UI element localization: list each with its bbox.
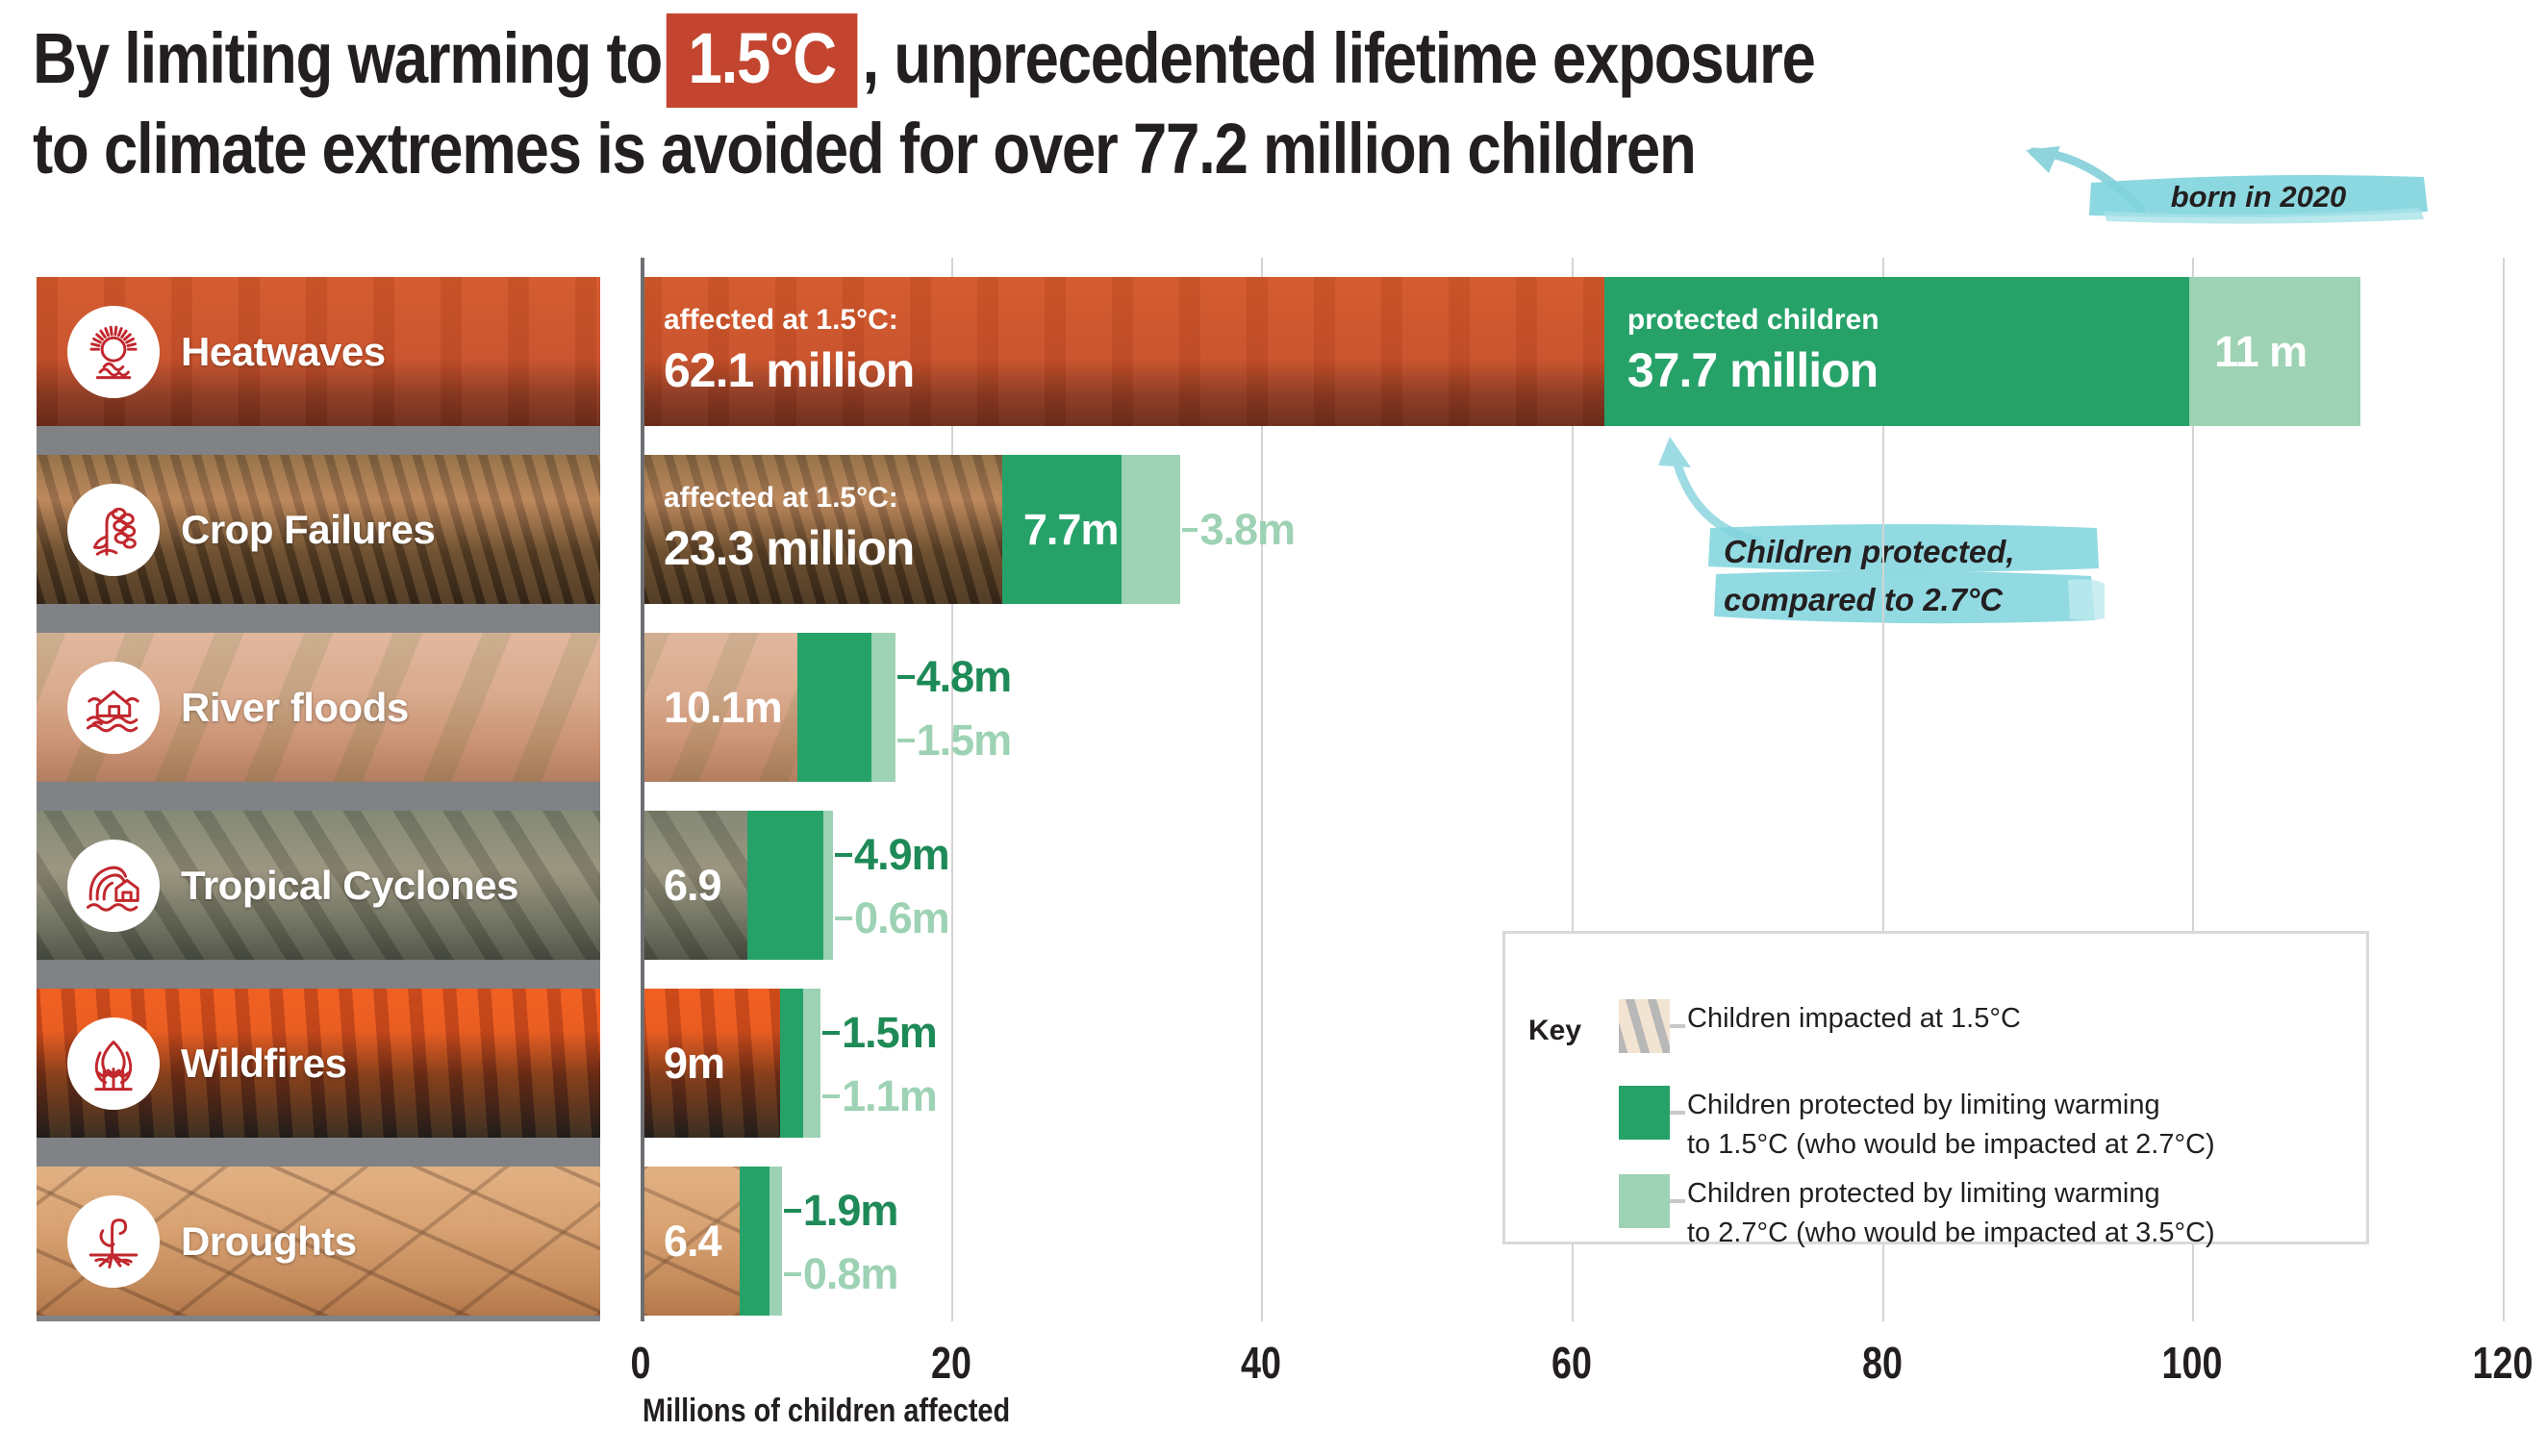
cyclone-icon xyxy=(67,840,160,932)
legend-title: Key xyxy=(1528,1015,1581,1047)
leader-line-2_7c xyxy=(1182,528,1198,532)
protected-2_7c-value: 0.6m xyxy=(854,893,949,943)
category-tile-heatwaves[interactable]: Heatwaves xyxy=(37,277,600,426)
axis-baseline xyxy=(641,258,644,1321)
segment-protected-2_7c[interactable] xyxy=(1122,455,1180,604)
legend-label: Children impacted at 1.5°C xyxy=(1687,999,2021,1039)
bar-row-heatwaves: affected at 1.5°C: 62.1 million protecte… xyxy=(641,277,2360,426)
affected-value: 62.1 million xyxy=(664,342,914,398)
x-axis-tick-label: 20 xyxy=(931,1337,971,1389)
legend-label: Children protected by limiting warming t… xyxy=(1687,1174,2215,1253)
category-label: River floods xyxy=(181,685,409,731)
segment-protected-1_5c[interactable] xyxy=(740,1167,769,1316)
protected-2_7c-value: 1.5m xyxy=(917,715,1012,766)
protected-1_5c-value: 37.7 million xyxy=(1627,342,1878,398)
affected-caption: affected at 1.5°C: xyxy=(664,482,898,515)
segment-protected-1_5c[interactable] xyxy=(797,633,871,782)
leader-line-2_7c xyxy=(897,739,915,742)
affected-caption: affected at 1.5°C: xyxy=(664,304,898,337)
legend-item-1: Children impacted at 1.5°C xyxy=(1619,999,2021,1053)
legend-swatch xyxy=(1619,1086,1670,1140)
title-text-after-chip: , unprecedented lifetime exposure xyxy=(862,18,1814,98)
category-label: Tropical Cyclones xyxy=(181,863,518,909)
segment-protected-2_7c[interactable] xyxy=(769,1167,782,1316)
legend-swatch xyxy=(1619,1174,1670,1228)
protected-1_5c-value: 1.5m xyxy=(842,1008,937,1058)
x-axis-tick-label: 120 xyxy=(2473,1337,2534,1389)
category-label: Crop Failures xyxy=(181,507,435,553)
heatwave-icon xyxy=(67,306,160,398)
page-title: By limiting warming to1.5°C, unprecedent… xyxy=(33,13,2130,190)
category-tile-wildfires[interactable]: Wildfires xyxy=(37,989,600,1138)
leader-line-1_5c xyxy=(897,675,915,679)
affected-value: 9m xyxy=(664,1039,724,1089)
legend-connector xyxy=(1670,1199,1685,1203)
segment-protected-2_7c[interactable] xyxy=(823,811,833,960)
x-axis-tick-label: 80 xyxy=(1862,1337,1903,1389)
legend-item-2: Children protected by limiting warming t… xyxy=(1619,1086,2215,1165)
legend-connector xyxy=(1670,1024,1685,1028)
legend-box: Key Children impacted at 1.5°C Children … xyxy=(1502,931,2369,1244)
legend-label: Children protected by limiting warming t… xyxy=(1687,1086,2215,1165)
category-label: Heatwaves xyxy=(181,329,386,375)
x-axis-tick-label: 100 xyxy=(2162,1337,2223,1389)
affected-value: 6.4 xyxy=(664,1217,721,1267)
leader-line-1_5c xyxy=(822,1031,840,1035)
protected-2_7c-value: 3.8m xyxy=(1199,505,1295,555)
crop-failure-icon xyxy=(67,484,160,576)
protected-1_5c-value: 1.9m xyxy=(803,1186,898,1236)
category-tile-river-floods[interactable]: River floods xyxy=(37,633,600,782)
leader-line-2_7c xyxy=(822,1094,840,1098)
protected-1_5c-value: 4.9m xyxy=(854,830,949,880)
protected-2_7c-value: 11 m xyxy=(2214,327,2307,377)
title-line-2: to climate extremes is avoided for over … xyxy=(33,108,1836,190)
born-in-badge: born in 2020 xyxy=(2085,169,2432,225)
category-label: Wildfires xyxy=(181,1041,346,1087)
bar-row-tropical-cyclones: 6.9 4.9m 0.6m xyxy=(641,811,833,960)
x-axis-tick-label: 0 xyxy=(631,1337,651,1389)
legend-swatch xyxy=(1619,999,1670,1053)
x-axis-tick-label: 60 xyxy=(1551,1337,1592,1389)
category-tile-droughts[interactable]: Droughts xyxy=(37,1167,600,1316)
segment-protected-2_7c[interactable] xyxy=(803,989,820,1138)
protected-caption: protected children xyxy=(1627,304,1879,337)
bar-row-river-floods: 10.1m 4.8m 1.5m xyxy=(641,633,895,782)
drought-icon xyxy=(67,1195,160,1288)
bar-row-droughts: 6.4 1.9m 0.8m xyxy=(641,1167,782,1316)
legend-connector xyxy=(1670,1111,1685,1115)
category-tile-tropical-cyclones[interactable]: Tropical Cyclones xyxy=(37,811,600,960)
river-flood-icon xyxy=(67,662,160,754)
x-axis-title: Millions of children affected xyxy=(643,1393,1010,1430)
protected-1_5c-value: 4.8m xyxy=(917,652,1012,702)
category-panel: Heatwaves Crop Failures River floods Tro… xyxy=(37,277,600,1321)
x-axis-tick-label: 40 xyxy=(1241,1337,1281,1389)
segment-protected-1_5c[interactable] xyxy=(780,989,803,1138)
title-text-before-chip: By limiting warming to xyxy=(33,18,662,98)
bar-row-wildfires: 9m 1.5m 1.1m xyxy=(641,989,820,1138)
protected-2_7c-value: 1.1m xyxy=(842,1071,937,1121)
segment-protected-1_5c[interactable] xyxy=(747,811,823,960)
bar-row-crop-failures: affected at 1.5°C: 23.3 million 7.7m 3.8… xyxy=(641,455,1180,604)
category-label: Droughts xyxy=(181,1218,357,1265)
leader-line-2_7c xyxy=(784,1272,801,1276)
protected-2_7c-value: 0.8m xyxy=(803,1249,898,1299)
leader-line-1_5c xyxy=(784,1209,801,1213)
affected-value: 23.3 million xyxy=(664,520,914,576)
born-in-label: born in 2020 xyxy=(2085,169,2432,225)
legend-item-3: Children protected by limiting warming t… xyxy=(1619,1174,2215,1253)
protected-1_5c-value: 7.7m xyxy=(1023,505,1119,555)
gridline xyxy=(2503,258,2505,1321)
title-line-1: By limiting warming to1.5°C, unprecedent… xyxy=(33,13,1836,108)
wildfire-icon xyxy=(67,1017,160,1110)
affected-value: 6.9 xyxy=(664,861,721,911)
affected-value: 10.1m xyxy=(664,683,782,733)
category-tile-crop-failures[interactable]: Crop Failures xyxy=(37,455,600,604)
temperature-chip: 1.5°C xyxy=(667,13,857,108)
segment-protected-2_7c[interactable] xyxy=(871,633,895,782)
leader-line-2_7c xyxy=(835,916,852,920)
leader-line-1_5c xyxy=(835,853,852,857)
